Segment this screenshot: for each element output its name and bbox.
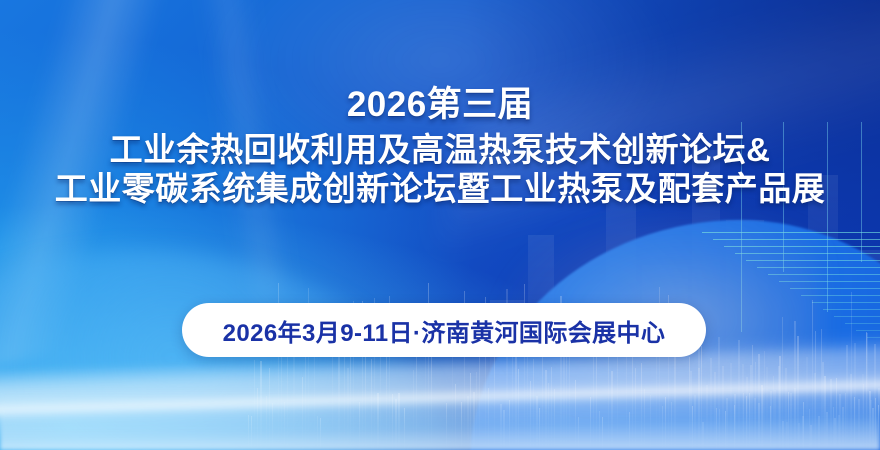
banner-content: 2026第三届 工业余热回收利用及高温热泵技术创新论坛& 工业零碳系统集成创新论… — [0, 0, 880, 450]
title-line-2: 工业余热回收利用及高温热泵技术创新论坛& — [0, 131, 880, 170]
event-title: 2026第三届 工业余热回收利用及高温热泵技术创新论坛& 工业零碳系统集成创新论… — [0, 84, 880, 209]
title-line-3: 工业零碳系统集成创新论坛暨工业热泵及配套产品展 — [0, 170, 880, 209]
title-line-1: 2026第三届 — [0, 84, 880, 125]
event-date-venue-text: 2026年3月9-11日·济南黄河国际会展中心 — [223, 313, 666, 348]
event-banner: 2026第三届 工业余热回收利用及高温热泵技术创新论坛& 工业零碳系统集成创新论… — [0, 0, 880, 450]
event-info-pill: 2026年3月9-11日·济南黄河国际会展中心 — [182, 303, 706, 357]
